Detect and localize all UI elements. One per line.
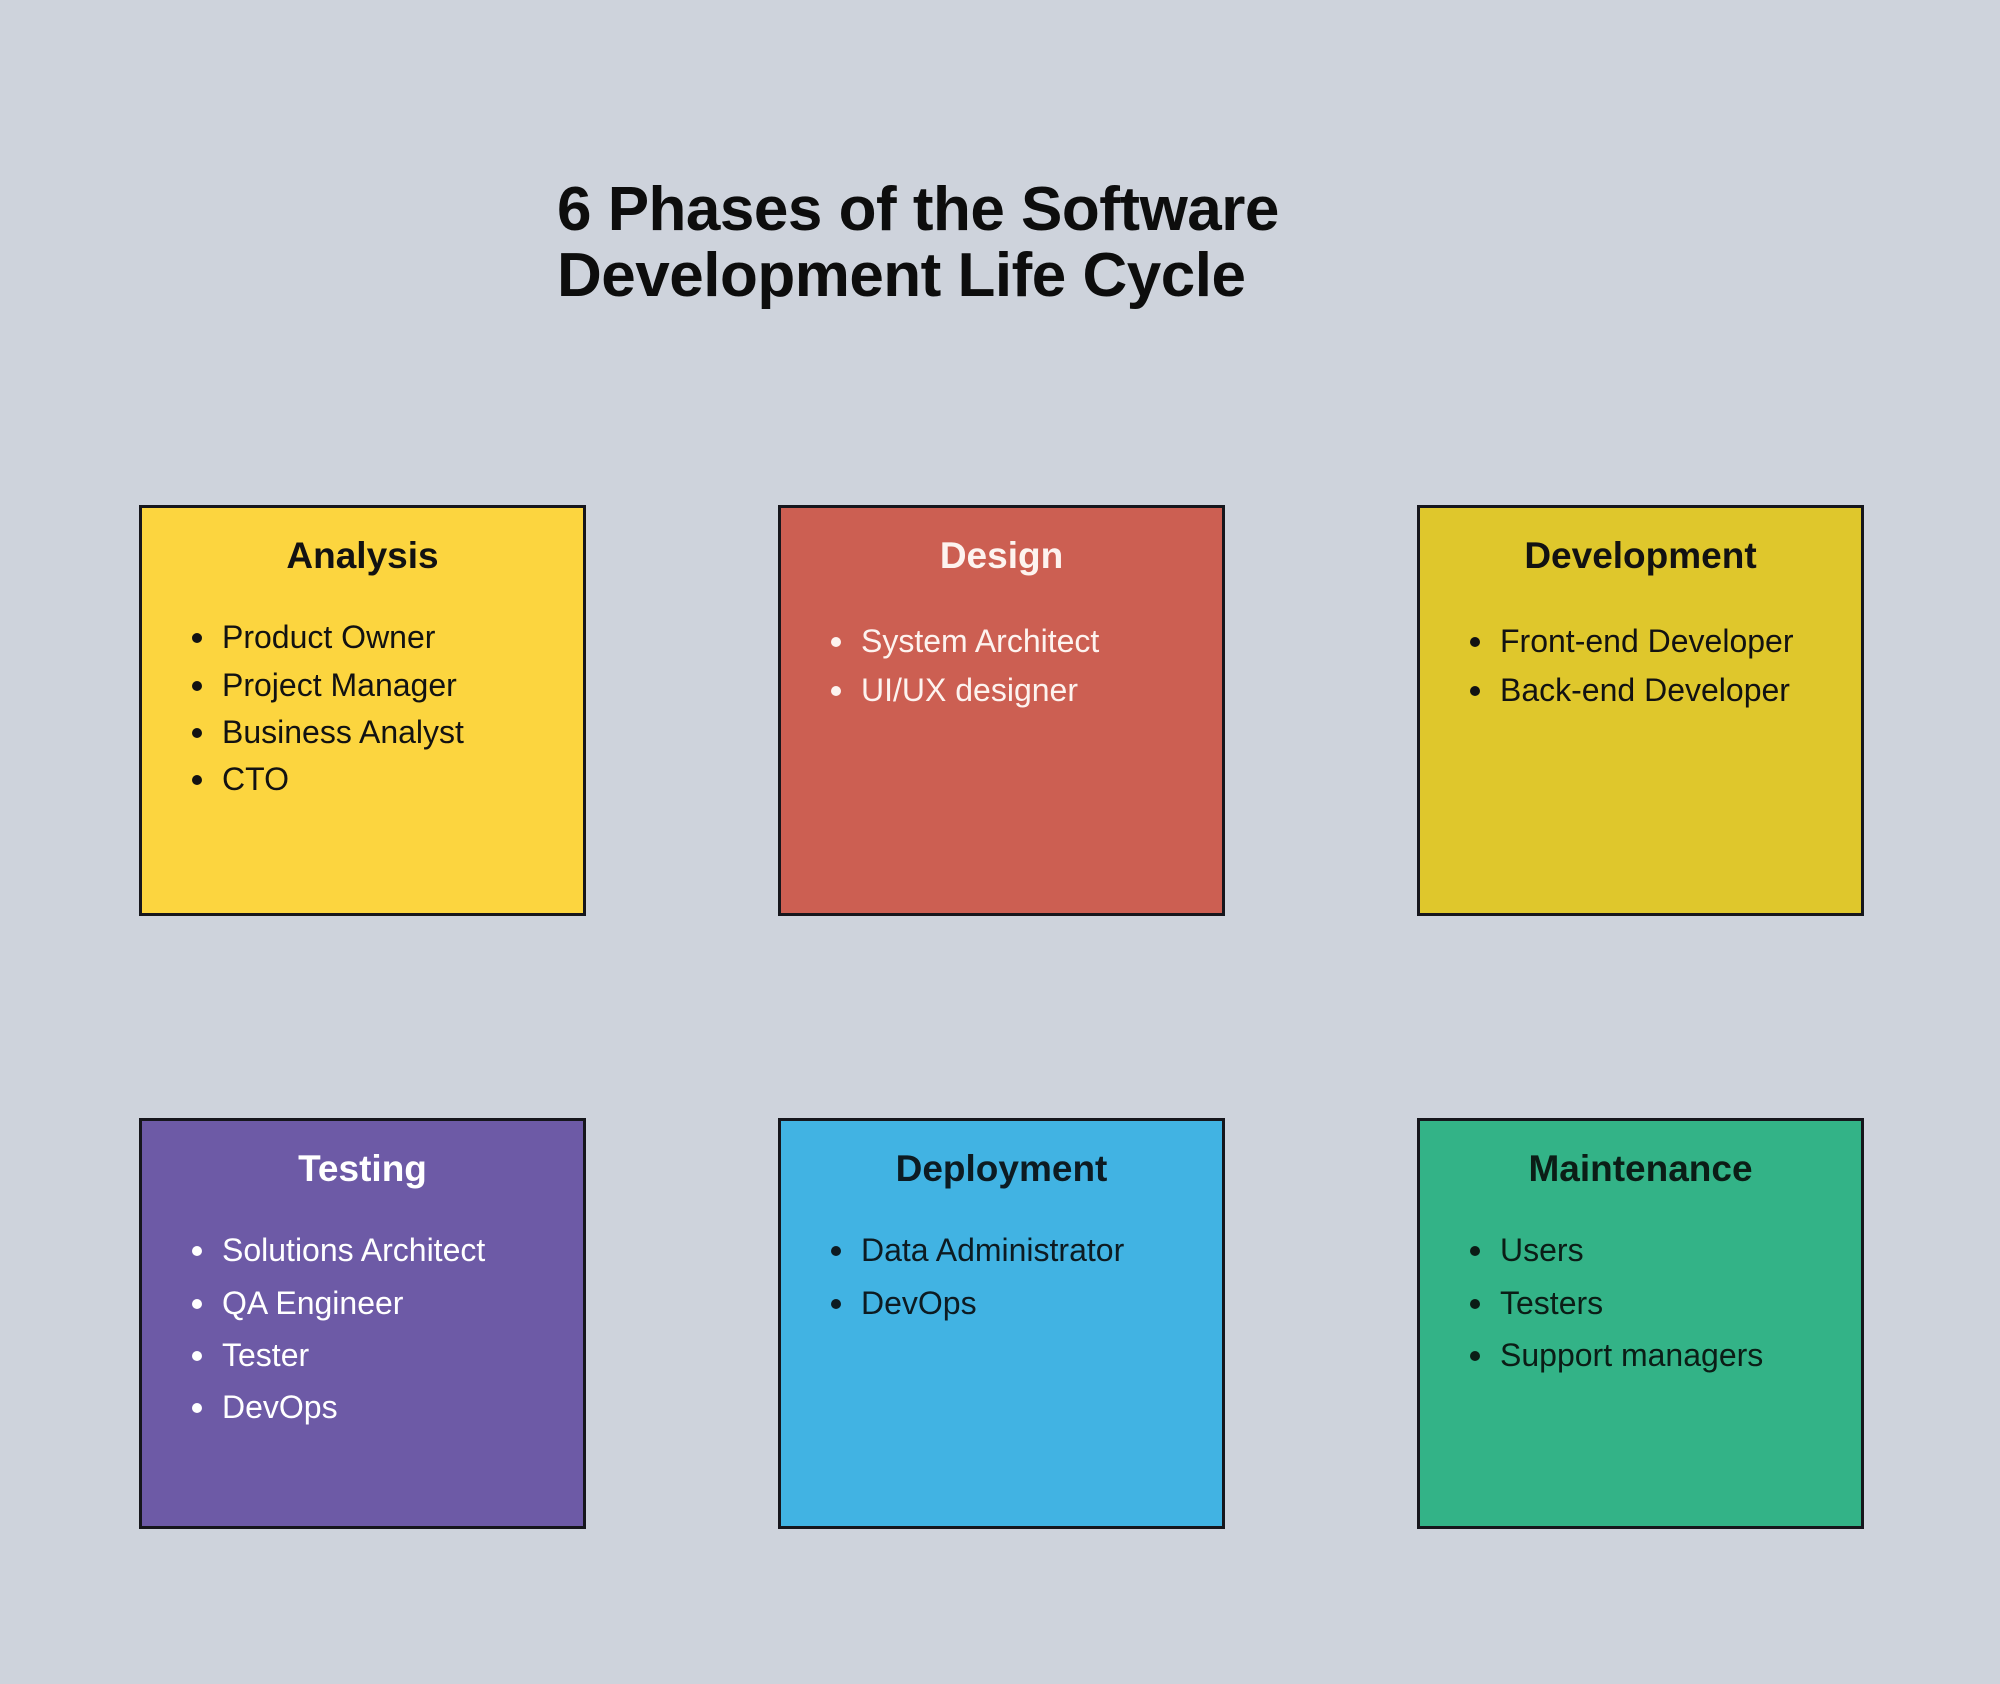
phase-card-design[interactable]: Design System Architect UI/UX designer [778,505,1225,916]
phase-card-grid: Analysis Product Owner Project Manager B… [139,505,1861,1540]
phase-card-title: Maintenance [1420,1147,1861,1191]
list-item: DevOps [192,1386,569,1428]
list-item: Product Owner [192,616,569,658]
list-item: DevOps [831,1282,1208,1324]
phase-card-title: Development [1420,534,1861,578]
list-item: Data Administrator [831,1229,1208,1271]
diagram-canvas: 6 Phases of the Software Development Lif… [0,0,2000,1684]
phase-role-list: Front-end Developer Back-end Developer [1420,620,1861,710]
phase-card-title: Design [781,534,1222,578]
phase-card-testing[interactable]: Testing Solutions Architect QA Engineer … [139,1118,586,1529]
list-item: System Architect [831,620,1208,662]
phase-role-list: Product Owner Project Manager Business A… [142,616,583,800]
list-item: Back-end Developer [1470,669,1847,711]
phase-card-title: Deployment [781,1147,1222,1191]
list-item: CTO [192,758,569,800]
list-item: Business Analyst [192,711,569,753]
phase-card-title: Testing [142,1147,583,1191]
phase-role-list: Data Administrator DevOps [781,1229,1222,1323]
list-item: Front-end Developer [1470,620,1847,662]
list-item: Project Manager [192,664,569,706]
phase-role-list: Users Testers Support managers [1420,1229,1861,1376]
list-item: Tester [192,1334,569,1376]
phase-card-maintenance[interactable]: Maintenance Users Testers Support manage… [1417,1118,1864,1529]
list-item: Solutions Architect [192,1229,569,1271]
phase-role-list: Solutions Architect QA Engineer Tester D… [142,1229,583,1428]
phase-card-title: Analysis [142,534,583,578]
page-title: 6 Phases of the Software Development Lif… [557,177,1557,311]
list-item: QA Engineer [192,1282,569,1324]
list-item: Support managers [1470,1334,1847,1376]
phase-card-development[interactable]: Development Front-end Developer Back-end… [1417,505,1864,916]
list-item: Testers [1470,1282,1847,1324]
phase-role-list: System Architect UI/UX designer [781,620,1222,710]
phase-card-analysis[interactable]: Analysis Product Owner Project Manager B… [139,505,586,916]
list-item: Users [1470,1229,1847,1271]
phase-card-deployment[interactable]: Deployment Data Administrator DevOps [778,1118,1225,1529]
list-item: UI/UX designer [831,669,1208,711]
